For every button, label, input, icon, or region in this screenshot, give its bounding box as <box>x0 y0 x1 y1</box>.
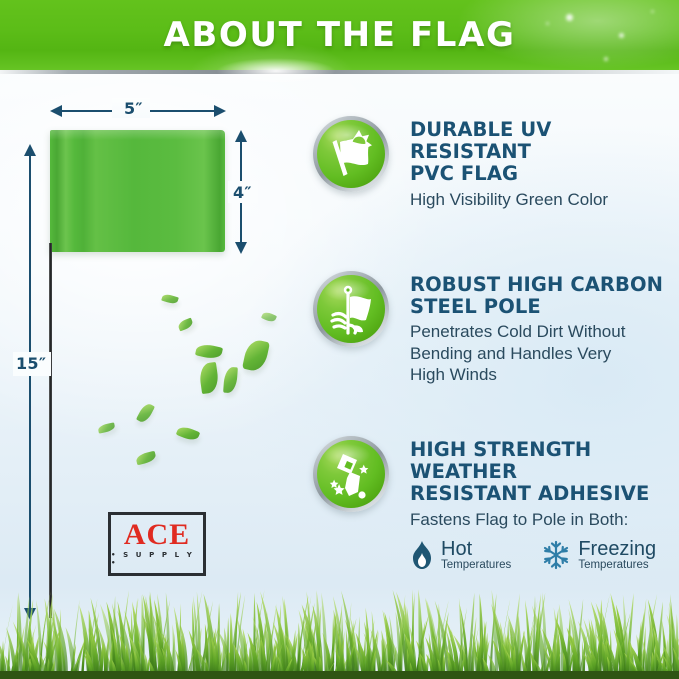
temperature-subtitle: Temperatures <box>578 560 656 572</box>
temperature-labels: Freezing Temperatures <box>578 539 656 571</box>
feature-icon-badge <box>313 116 389 192</box>
feature-title-line: RESISTANT ADHESIVE <box>410 483 679 505</box>
feature-description-line: High Winds <box>410 364 663 385</box>
feature-description-line: High Visibility Green Color <box>410 189 679 210</box>
feature-icon-badge <box>313 271 389 347</box>
snowflake-icon <box>541 539 571 571</box>
temperature-hot: Hot Temperatures <box>410 539 511 571</box>
grass-border <box>0 575 679 679</box>
feature-description-line: Fastens Flag to Pole in Both: <box>410 509 679 530</box>
arrow-down-icon <box>235 242 247 254</box>
banner-glow <box>216 58 336 84</box>
leaf-icon <box>135 451 157 466</box>
feature-title-line: STEEL POLE <box>410 296 663 318</box>
feature-description: Fastens Flag to Pole in Both: <box>410 509 679 530</box>
flag-sun-icon <box>317 120 385 188</box>
feature-description: Penetrates Cold Dirt Without Bending and… <box>410 321 663 385</box>
feature-description-line: Penetrates Cold Dirt Without <box>410 321 663 342</box>
leaf-icon <box>261 310 277 323</box>
leaf-icon <box>177 318 194 332</box>
arrow-up-icon <box>235 130 247 142</box>
feature-description-line: Bending and Handles Very <box>410 343 663 364</box>
pole-dimension-label: 15″ <box>16 354 46 373</box>
feature-title-line: ROBUST HIGH CARBON <box>410 274 663 296</box>
feature-weather-resistant-adhesive: HIGH STRENGTH WEATHER RESISTANT ADHESIVE… <box>313 436 679 571</box>
temperature-row: Hot Temperatures <box>410 539 679 571</box>
flag-product-image <box>50 130 225 252</box>
banner-divider <box>0 70 679 74</box>
arrow-left-icon <box>50 105 62 117</box>
infographic-canvas: ABOUT THE FLAG 5″ 5″ 4″ 15″ ACE • S U P … <box>0 0 679 679</box>
brand-tagline: • S U P P L Y • <box>111 551 203 567</box>
leaf-icon <box>242 338 270 373</box>
temperature-title: Freezing <box>578 539 656 560</box>
flag-fabric <box>50 130 225 252</box>
leaf-icon <box>136 402 155 425</box>
flagpole-wind-icon <box>317 275 385 343</box>
feature-title: ROBUST HIGH CARBON STEEL POLE <box>410 274 663 318</box>
feature-icon-badge <box>313 436 389 512</box>
feature-title: HIGH STRENGTH WEATHER RESISTANT ADHESIVE <box>410 439 679 506</box>
leaf-icon <box>198 362 220 394</box>
temperature-subtitle: Temperatures <box>441 560 511 572</box>
feature-title: DURABLE UV RESISTANT PVC FLAG <box>410 119 679 186</box>
leaf-icon <box>223 367 238 394</box>
temperature-freezing: Freezing Temperatures <box>541 539 656 571</box>
temperature-title: Hot <box>441 539 511 560</box>
feature-title-line: DURABLE UV RESISTANT <box>410 119 679 163</box>
feature-title-line: PVC FLAG <box>410 163 679 185</box>
feature-uv-resistant-flag: DURABLE UV RESISTANT PVC FLAG High Visib… <box>313 116 679 210</box>
feature-text: ROBUST HIGH CARBON STEEL POLE Penetrates… <box>410 271 663 385</box>
pole-dimension-line <box>29 156 31 608</box>
leaf-icon <box>161 293 179 306</box>
arrow-right-icon <box>214 105 226 117</box>
feature-steel-pole: ROBUST HIGH CARBON STEEL POLE Penetrates… <box>313 271 663 385</box>
feature-title-line: HIGH STRENGTH WEATHER <box>410 439 679 483</box>
brand-name: ACE <box>124 521 190 550</box>
glue-bottle-icon <box>317 440 385 508</box>
grass-blades <box>0 575 679 679</box>
brand-logo: ACE • S U P P L Y • <box>108 512 206 576</box>
flame-icon <box>410 540 434 570</box>
page-title: ABOUT THE FLAG <box>0 0 679 70</box>
leaf-icon <box>97 422 115 433</box>
arrow-up-icon <box>24 144 36 156</box>
leaf-icon <box>195 342 223 360</box>
feature-text: DURABLE UV RESISTANT PVC FLAG High Visib… <box>410 116 679 210</box>
temperature-labels: Hot Temperatures <box>441 539 511 571</box>
height-dimension-label: 4″ <box>233 183 252 202</box>
width-dimension-label-text: 5″ <box>124 99 143 118</box>
leaf-icon <box>176 424 201 442</box>
feature-description: High Visibility Green Color <box>410 189 679 210</box>
flag-pole <box>49 243 52 618</box>
feature-text: HIGH STRENGTH WEATHER RESISTANT ADHESIVE… <box>410 436 679 571</box>
